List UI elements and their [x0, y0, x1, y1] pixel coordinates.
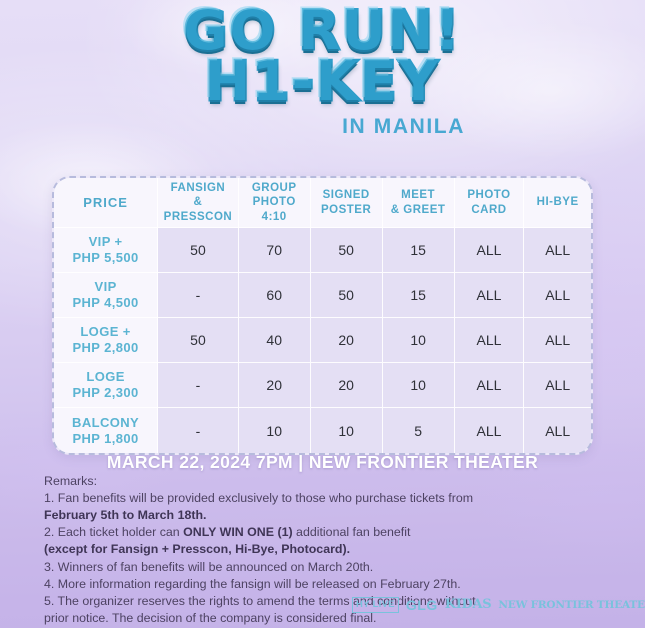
table-header-signed-poster: SIGNED POSTER [311, 178, 383, 228]
cell-meet-greet: 5 [383, 408, 455, 453]
cell-signed-poster: 50 [311, 228, 383, 273]
cell-fansign-presscon: 50 [158, 318, 239, 363]
cell-meet-greet: 15 [383, 228, 455, 273]
cell-fansign-presscon: - [158, 273, 239, 318]
cell-group-photo: 20 [239, 363, 311, 408]
table-row: LOGE + PHP 2,800 50 40 20 10 ALL ALL [54, 318, 591, 363]
hylive-logo: HY LIVE [352, 597, 399, 613]
row-price-tier: VIP + PHP 5,500 [54, 228, 158, 273]
cell-photo-card: ALL [455, 408, 525, 453]
cell-fansign-presscon: 50 [158, 228, 239, 273]
table-header-hi-bye: HI-BYE [524, 178, 591, 228]
remark-item-2-line-2: (except for Fansign + Presscon, Hi-Bye, … [44, 541, 514, 558]
cell-group-photo: 60 [239, 273, 311, 318]
cell-signed-poster: 50 [311, 273, 383, 318]
table-row: LOGE PHP 2,300 - 20 20 10 ALL ALL [54, 363, 591, 408]
remark-item-2-line-1: 2. Each ticket holder can ONLY WIN ONE (… [44, 524, 514, 541]
kidas-logo: KIDAS [445, 598, 492, 611]
cell-signed-poster: 20 [311, 318, 383, 363]
event-date-venue: MARCH 22, 2024 7PM | NEW FRONTIER THEATE… [0, 452, 645, 473]
remark-item-4: 4. More information regarding the fansig… [44, 576, 514, 593]
glg-logo: GLG [406, 598, 438, 612]
new-frontier-theater-logo: NEW FRONTIER THEATER [498, 600, 645, 611]
table-header-row: PRICE FANSIGN & PRESSCON GROUP PHOTO 4:1… [54, 178, 591, 228]
cell-signed-poster: 20 [311, 363, 383, 408]
table-header-group-photo: GROUP PHOTO 4:10 [239, 178, 311, 228]
cloud-decoration [400, 20, 645, 160]
sponsor-logo-row: HY LIVE GLG KIDAS NEW FRONTIER THEATER T… [352, 597, 645, 613]
table-row: VIP PHP 4,500 - 60 50 15 ALL ALL [54, 273, 591, 318]
table-header-fansign-presscon: FANSIGN & PRESSCON [158, 178, 239, 228]
table-header-meet-greet: MEET & GREET [383, 178, 455, 228]
cell-hi-bye: ALL [524, 363, 591, 408]
cell-meet-greet: 15 [383, 273, 455, 318]
row-price-tier: LOGE + PHP 2,800 [54, 318, 158, 363]
cell-photo-card: ALL [455, 363, 525, 408]
remarks-heading: Remarks: [44, 473, 514, 490]
table-header-photo-card: PHOTO CARD [455, 178, 525, 228]
cell-photo-card: ALL [455, 273, 525, 318]
cell-meet-greet: 10 [383, 363, 455, 408]
row-price-tier: LOGE PHP 2,300 [54, 363, 158, 408]
cell-hi-bye: ALL [524, 273, 591, 318]
remark-item-1-line-1: 1. Fan benefits will be provided exclusi… [44, 490, 514, 507]
cell-group-photo: 40 [239, 318, 311, 363]
cell-photo-card: ALL [455, 228, 525, 273]
cell-hi-bye: ALL [524, 318, 591, 363]
cell-signed-poster: 10 [311, 408, 383, 453]
remark-item-1-line-2: February 5th to March 18th. [44, 507, 514, 524]
row-price-tier: BALCONY PHP 1,800 [54, 408, 158, 453]
table-header-price: PRICE [54, 178, 158, 228]
cell-hi-bye: ALL [524, 408, 591, 453]
cloud-decoration [120, 0, 360, 80]
cell-photo-card: ALL [455, 318, 525, 363]
cell-fansign-presscon: - [158, 408, 239, 453]
cell-group-photo: 10 [239, 408, 311, 453]
table-row: BALCONY PHP 1,800 - 10 10 5 ALL ALL [54, 408, 591, 453]
row-price-tier: VIP PHP 4,500 [54, 273, 158, 318]
cell-hi-bye: ALL [524, 228, 591, 273]
table-row: VIP + PHP 5,500 50 70 50 15 ALL ALL [54, 228, 591, 273]
cell-group-photo: 70 [239, 228, 311, 273]
pricing-benefits-table: PRICE FANSIGN & PRESSCON GROUP PHOTO 4:1… [52, 176, 593, 455]
cell-fansign-presscon: - [158, 363, 239, 408]
cell-meet-greet: 10 [383, 318, 455, 363]
remark-item-3: 3. Winners of fan benefits will be annou… [44, 559, 514, 576]
